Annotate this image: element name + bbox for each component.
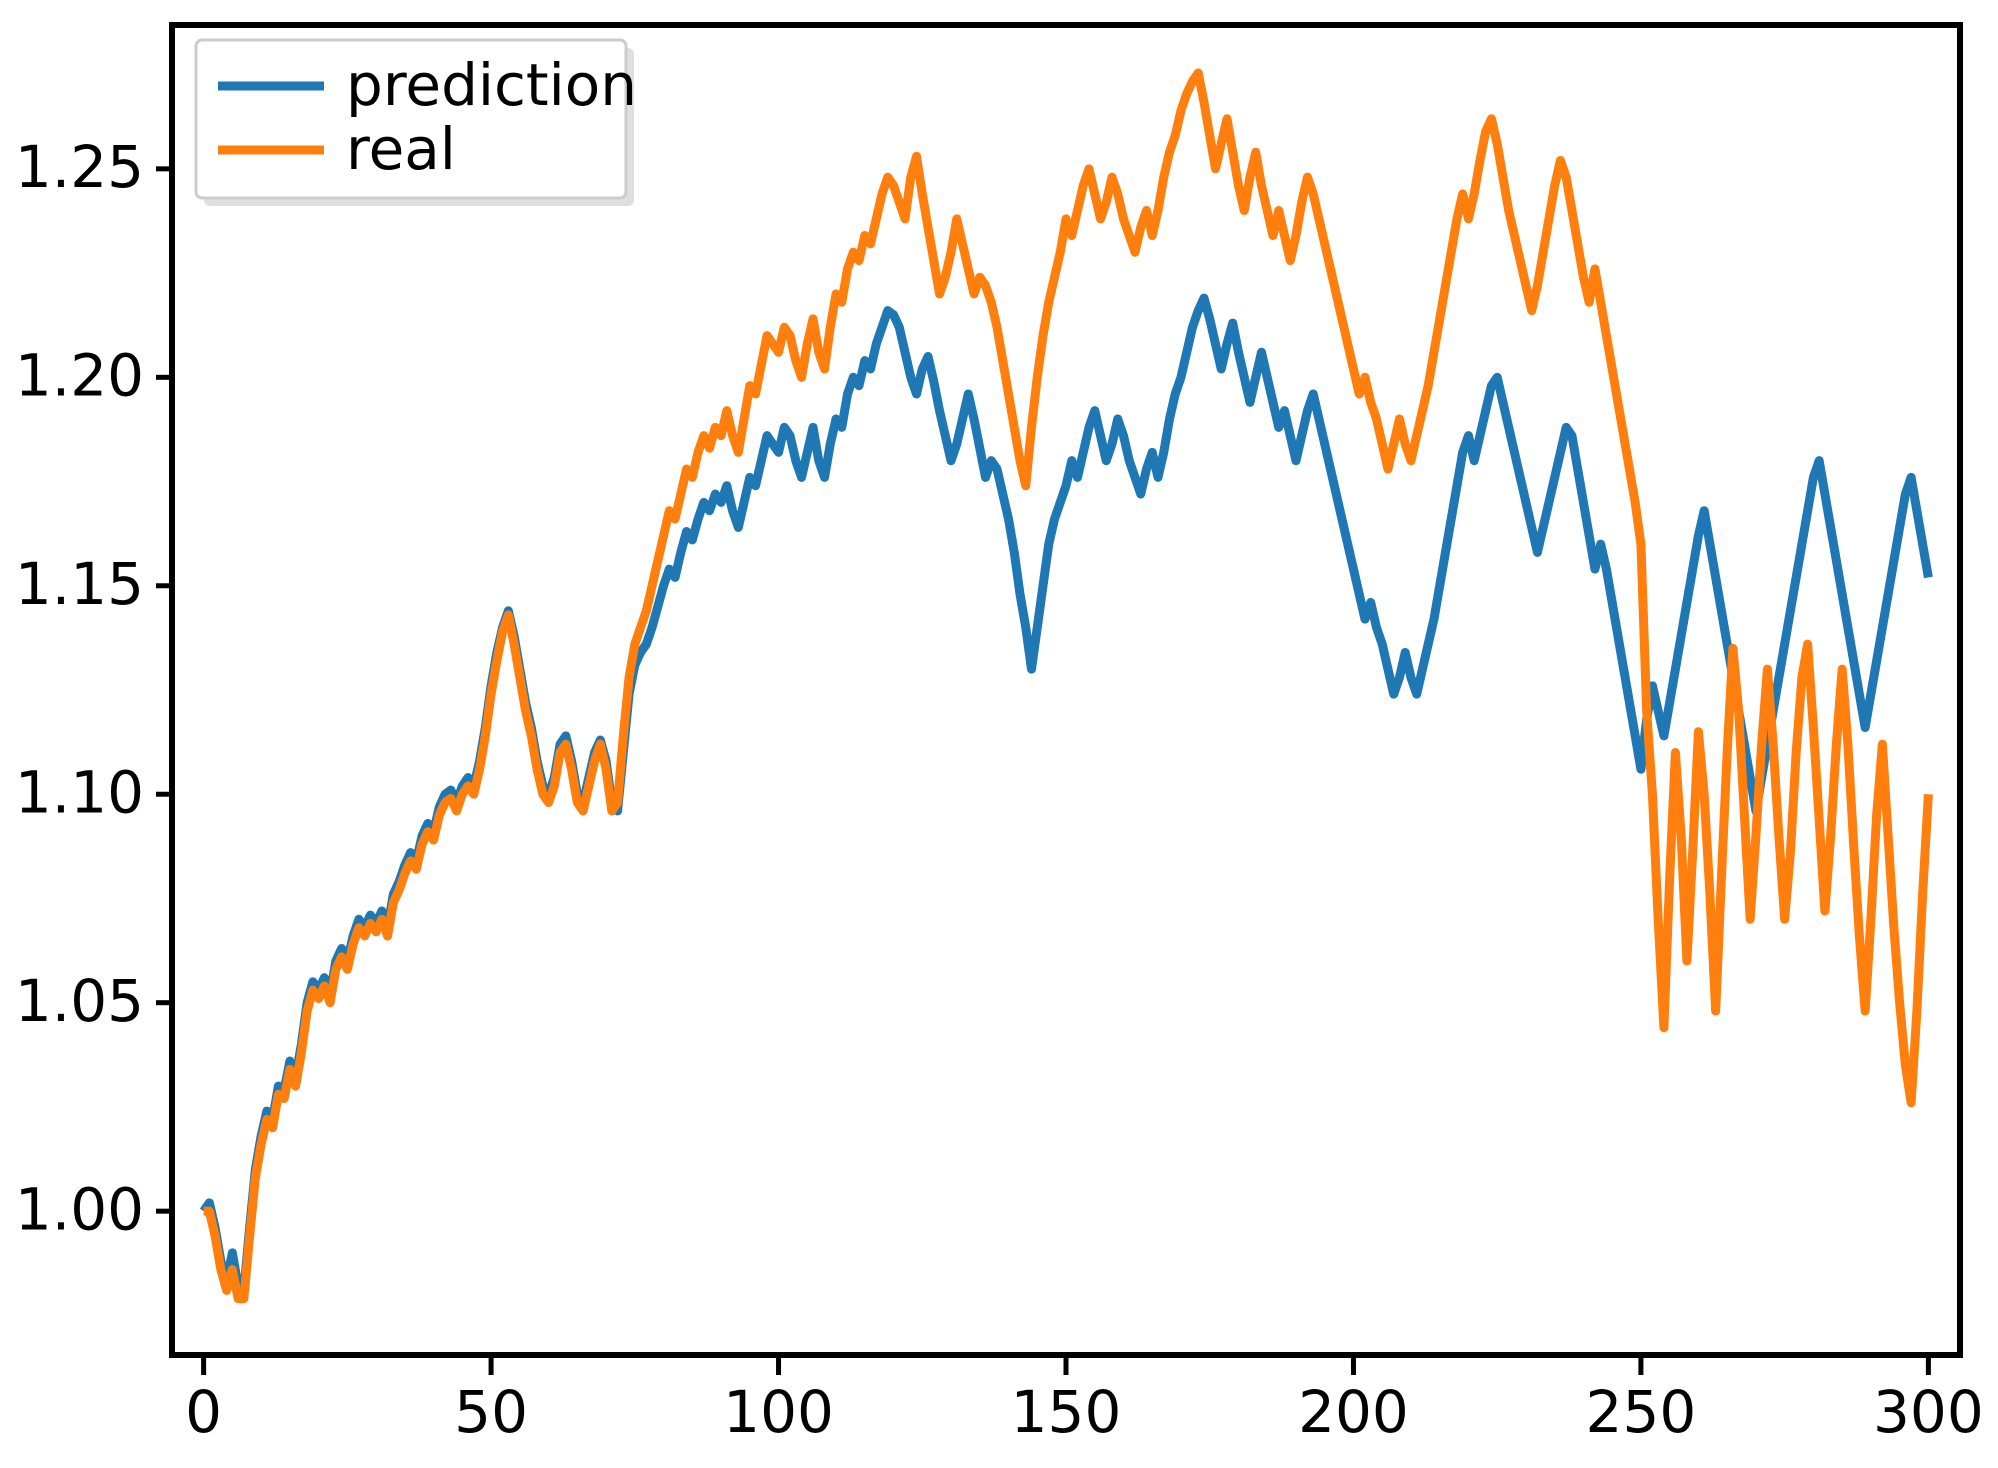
legend-label-prediction[interactable]: prediction [346, 51, 637, 119]
line-chart[interactable]: 1.001.051.101.151.201.250501001502002503… [0, 0, 1998, 1468]
chart-legend[interactable]: predictionreal [196, 40, 637, 206]
legend-label-real[interactable]: real [346, 115, 456, 183]
x-tick-label: 0 [185, 1378, 222, 1446]
y-tick-label: 1.10 [15, 758, 144, 826]
x-tick-label: 250 [1586, 1378, 1697, 1446]
y-tick-label: 1.15 [15, 550, 144, 618]
y-tick-label: 1.05 [15, 967, 144, 1035]
x-tick-label: 200 [1298, 1378, 1409, 1446]
x-tick-label: 100 [723, 1378, 834, 1446]
x-tick-label: 50 [454, 1378, 528, 1446]
x-tick-label: 150 [1011, 1378, 1122, 1446]
y-tick-label: 1.25 [15, 133, 144, 201]
x-tick-label: 300 [1873, 1378, 1984, 1446]
y-tick-label: 1.00 [15, 1175, 144, 1243]
y-tick-label: 1.20 [15, 341, 144, 409]
chart-figure: 1.001.051.101.151.201.250501001502002503… [0, 0, 1998, 1468]
